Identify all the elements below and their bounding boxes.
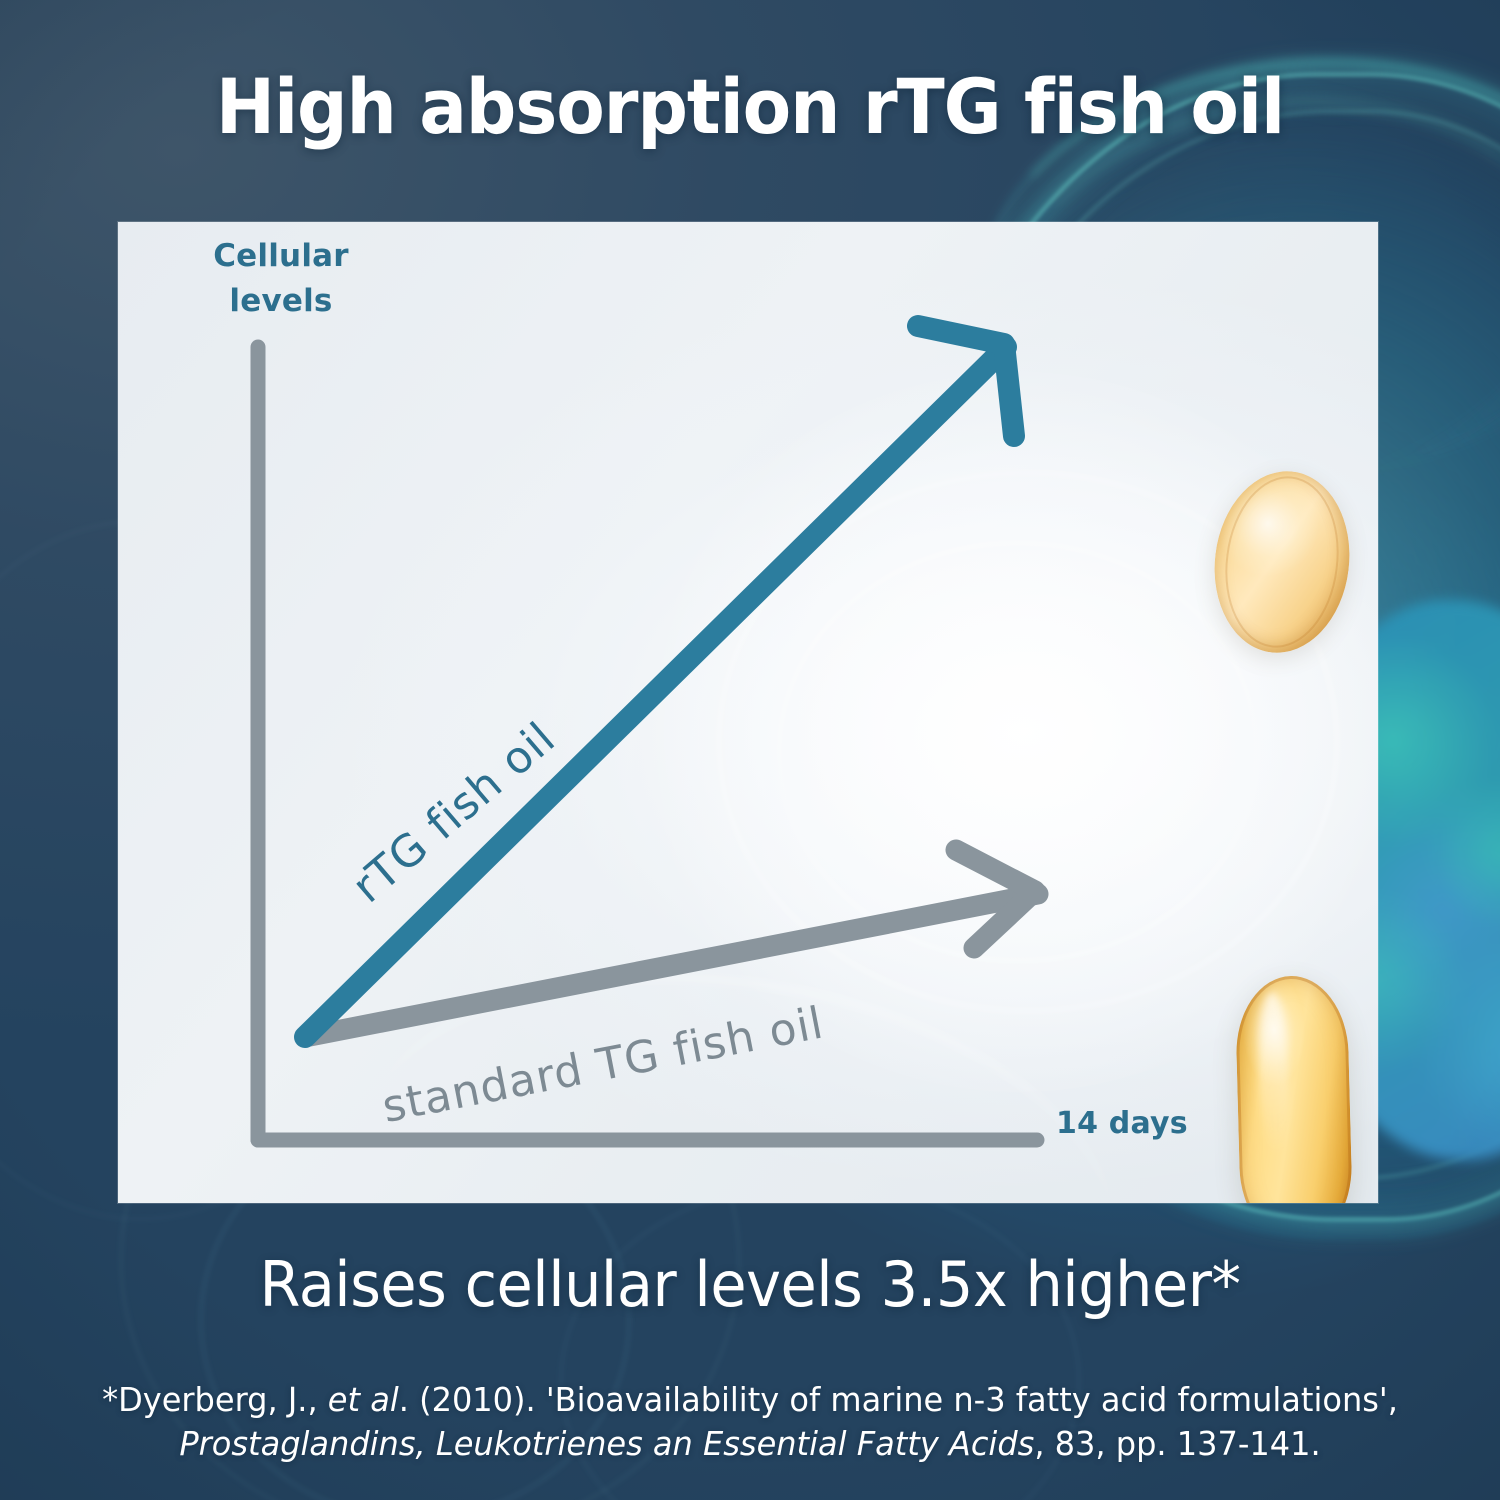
citation-line-2: Prostaglandins, Leukotrienes an Essentia… <box>23 1422 1478 1466</box>
x-axis-label: 14 days <box>1056 1102 1188 1146</box>
chart-panel: Cellular levels 14 days rTG fish oil sta… <box>118 222 1378 1203</box>
y-axis-label: Cellular levels <box>181 234 381 324</box>
y-axis-label-line2: levels <box>181 279 381 324</box>
citation-line-1: *Dyerberg, J., et al. (2010). 'Bioavaila… <box>23 1378 1478 1422</box>
y-axis-label-line1: Cellular <box>181 234 381 279</box>
citation-line1-b: . (2010). 'Bioavailability of marine n-3… <box>399 1380 1398 1419</box>
series-arrow-rtg <box>305 326 1014 1037</box>
subheadline: Raises cellular levels 3.5x higher* <box>38 1248 1463 1321</box>
softgel-capsule-large <box>1235 975 1354 1203</box>
citation-et-al: et al <box>328 1380 399 1419</box>
citation-line2-b: , 83, pp. 137-141. <box>1034 1424 1320 1463</box>
citation-block: *Dyerberg, J., et al. (2010). 'Bioavaila… <box>23 1378 1478 1466</box>
infographic-canvas: High absorption rTG fish oil Cellula <box>0 0 1500 1500</box>
page-title: High absorption rTG fish oil <box>53 62 1448 151</box>
citation-journal-name: Prostaglandins, Leukotrienes an Essentia… <box>179 1424 1034 1463</box>
citation-line1-a: *Dyerberg, J., <box>102 1380 328 1419</box>
